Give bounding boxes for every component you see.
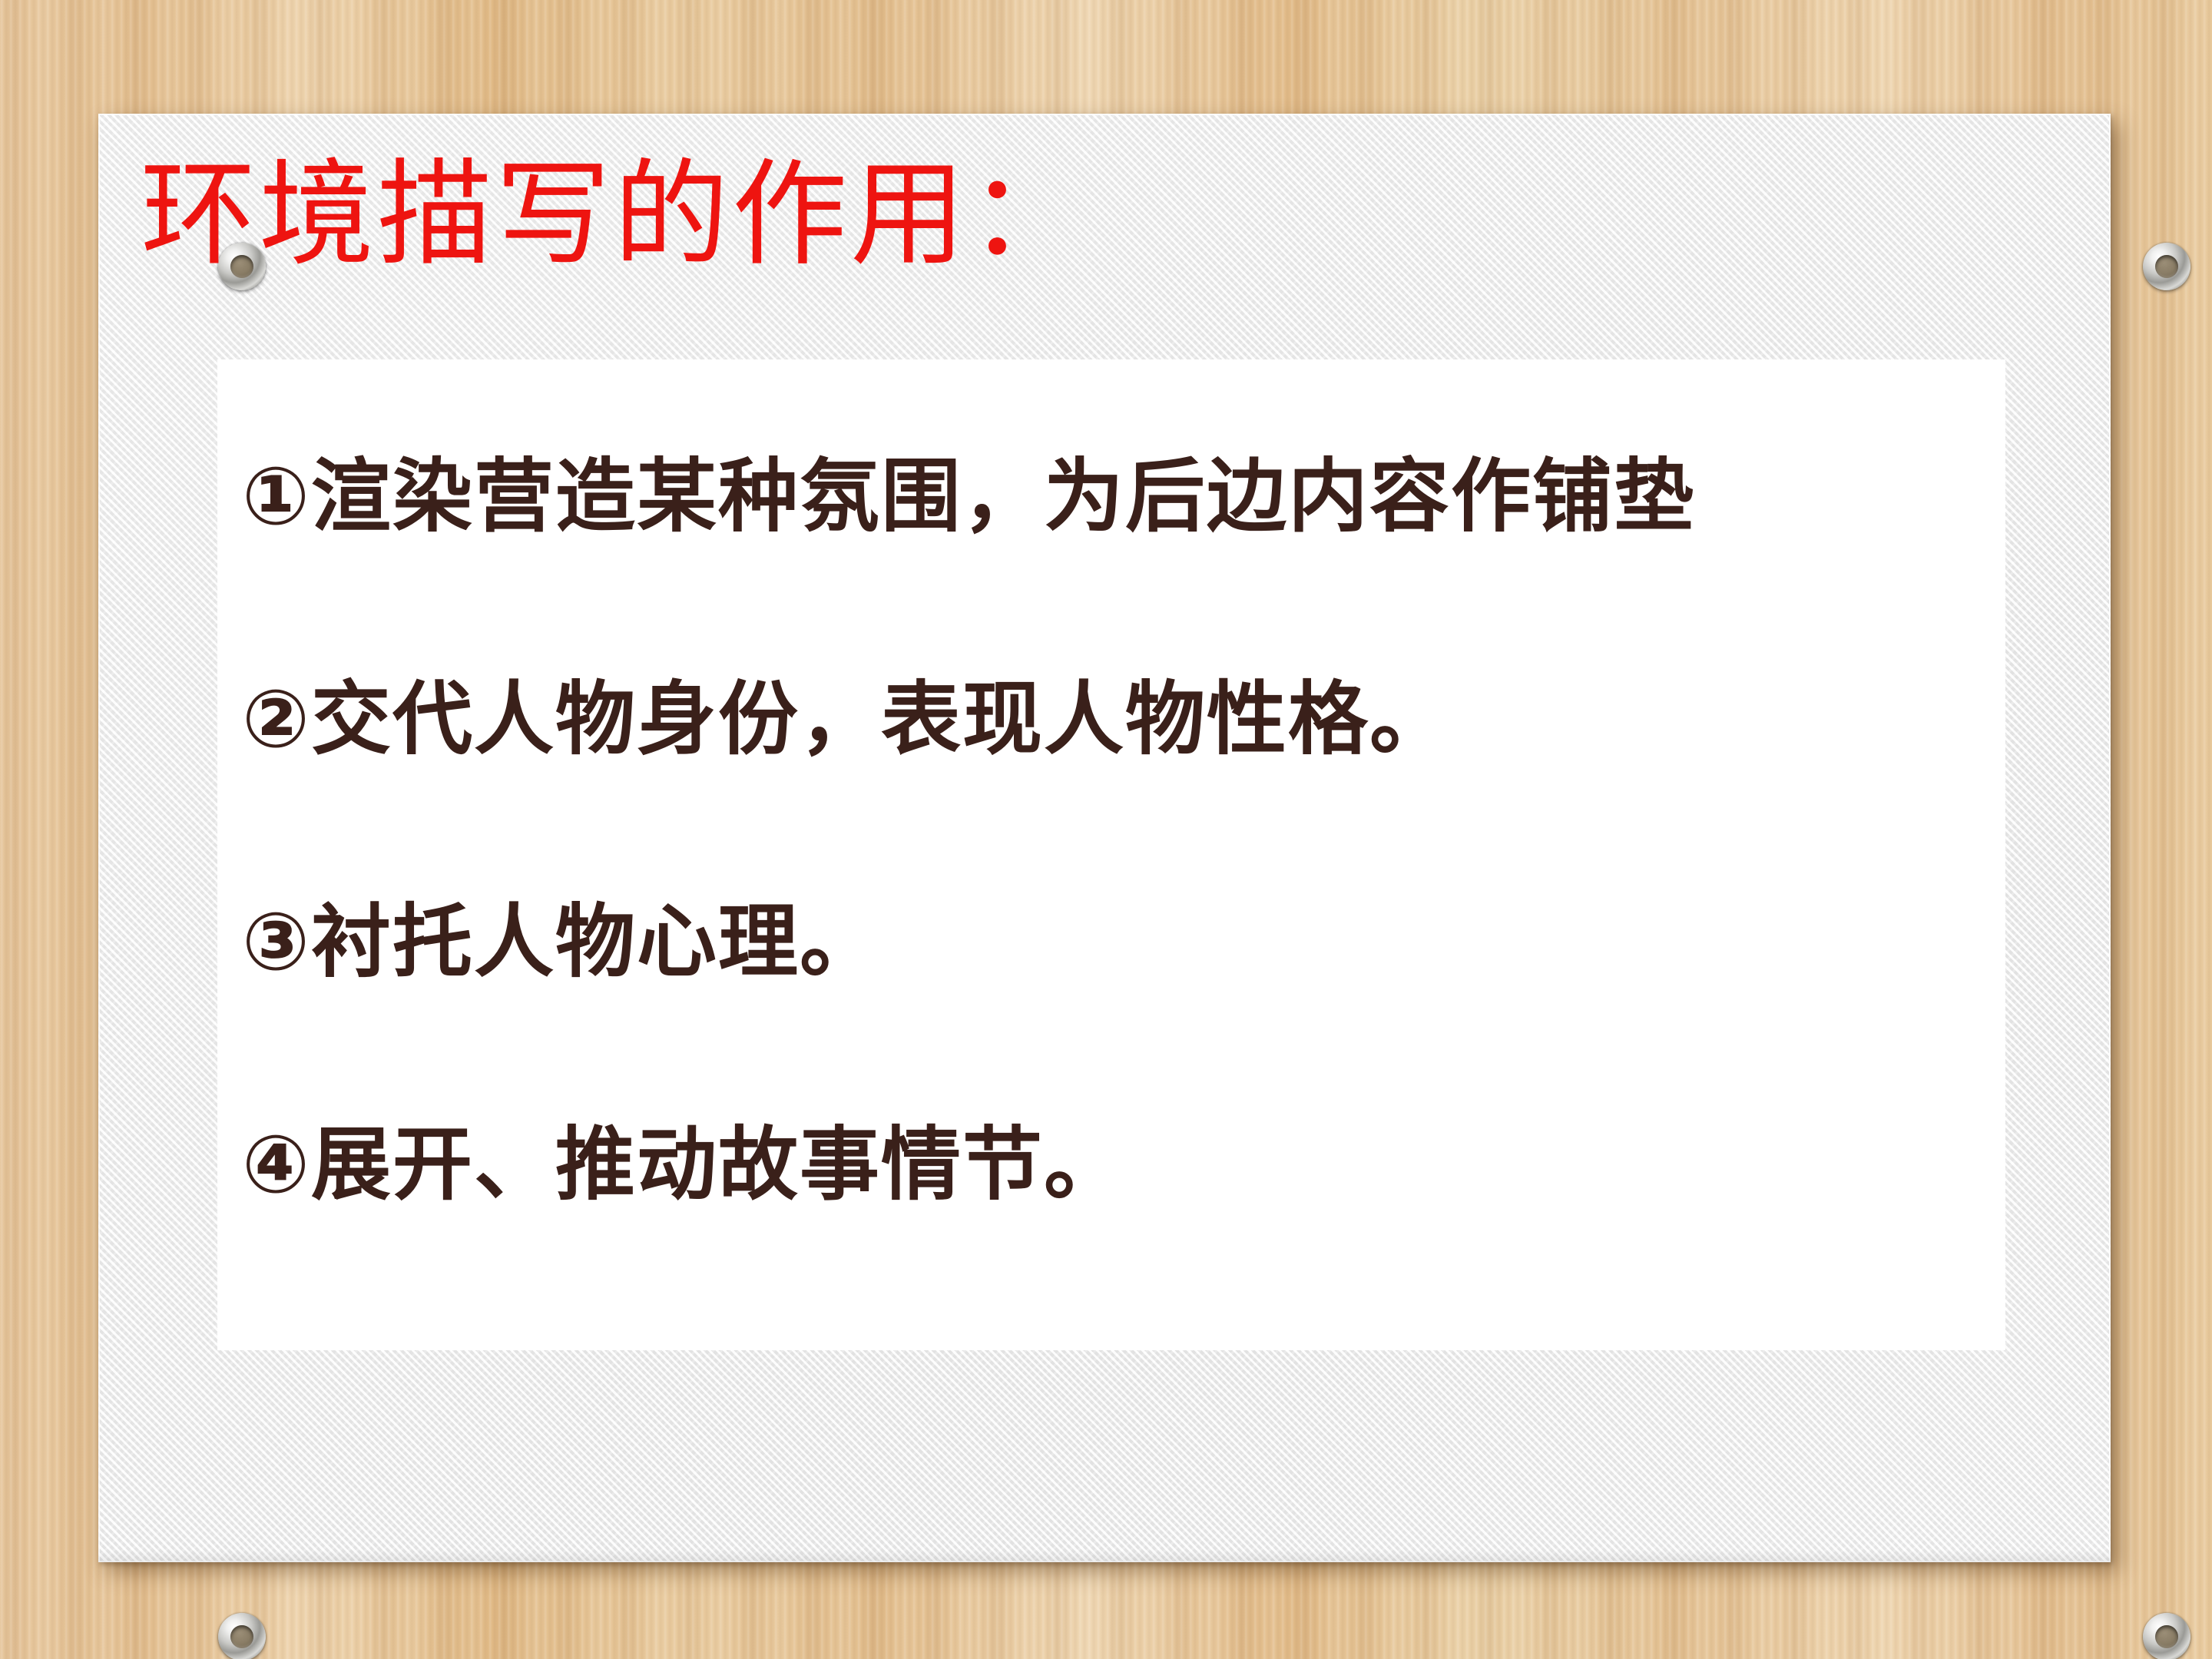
list-item: ②交代人物身份，表现人物性格。	[242, 679, 2005, 759]
rivet-bottom-left-icon	[218, 1613, 266, 1659]
content-panel: ①渲染营造某种氛围，为后边内容作铺垫 ②交代人物身份，表现人物性格。 ③衬托人物…	[217, 359, 2005, 1350]
rivet-top-right-icon	[2143, 243, 2190, 290]
list-item: ③衬托人物心理。	[242, 902, 2005, 982]
slide-canvas: 环境描写的作用： ①渲染营造某种氛围，为后边内容作铺垫 ②交代人物身份，表现人物…	[0, 0, 2212, 1659]
page-title: 环境描写的作用：	[141, 147, 1087, 283]
list-item: ①渲染营造某种氛围，为后边内容作铺垫	[242, 456, 2005, 536]
list-item: ④展开、推动故事情节。	[242, 1124, 2005, 1204]
rivet-bottom-right-icon	[2143, 1613, 2190, 1659]
